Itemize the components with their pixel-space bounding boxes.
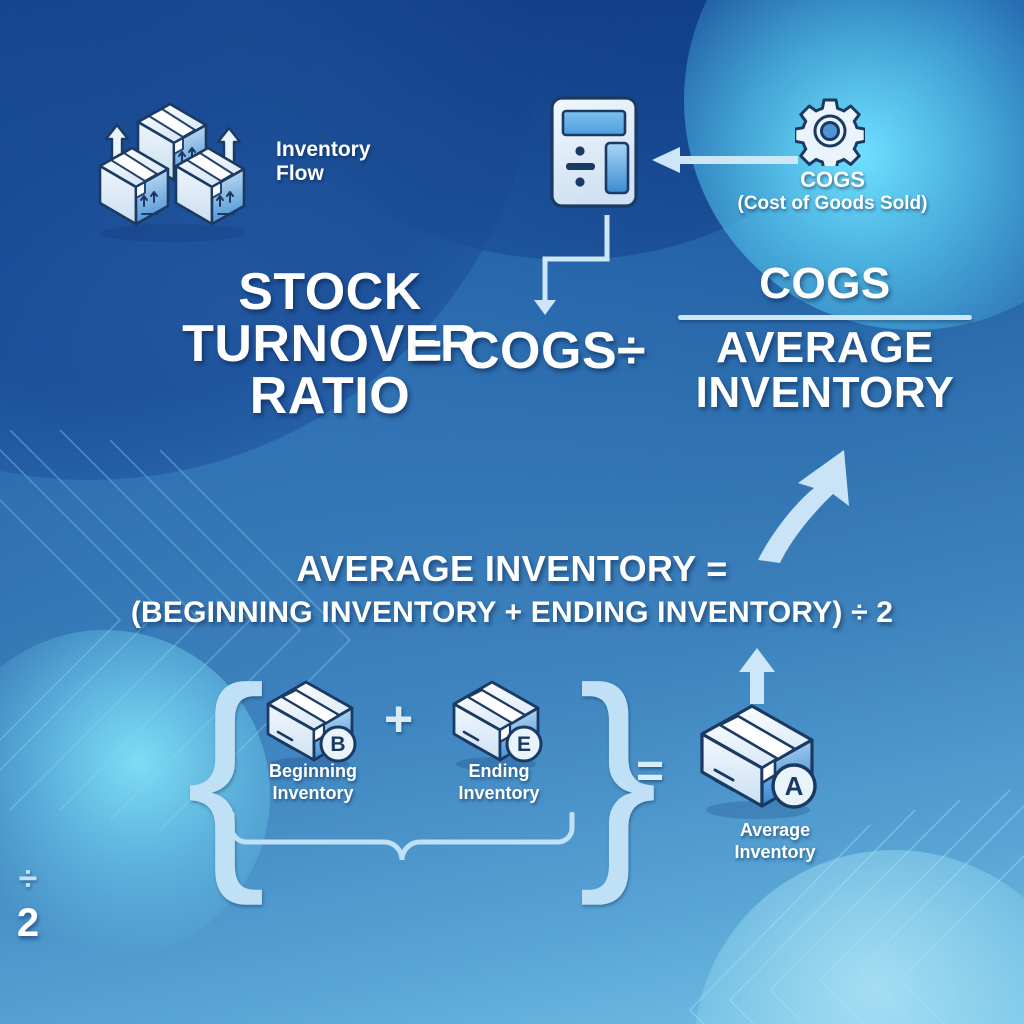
fraction-denominator-line1: AVERAGE <box>660 326 990 371</box>
average-inventory-label-line2: Inventory <box>700 842 850 864</box>
inventory-flow-label-line1: Inventory <box>276 138 371 162</box>
ending-inventory-label: Ending Inventory <box>434 761 564 804</box>
box-badge-b: B <box>330 733 345 756</box>
gear-icon <box>795 96 865 166</box>
box-icon-ending: E <box>444 676 552 772</box>
curved-arrow-up-right-icon <box>752 432 882 567</box>
average-inventory-label-line1: Average <box>700 820 850 842</box>
fraction-block: COGS AVERAGE INVENTORY <box>660 262 990 416</box>
formula-title-line1: STOCK <box>110 266 550 318</box>
fraction-denominator-line2: INVENTORY <box>660 371 990 416</box>
ending-inventory-label-line1: Ending <box>434 761 564 783</box>
fraction-numerator: COGS <box>660 262 990 307</box>
divisor-value: 2 <box>0 901 402 946</box>
infographic-canvas: Inventory Flow <box>0 0 1024 1024</box>
ending-inventory-label-line2: Inventory <box>434 783 564 805</box>
stacked-boxes-icon <box>78 92 268 242</box>
average-inventory-label: Average Inventory <box>700 820 850 863</box>
average-inventory-formula-line1: AVERAGE INVENTORY = <box>0 548 1024 590</box>
formula-divide-sign: ÷ <box>617 325 646 377</box>
box-badge-e: E <box>517 733 531 756</box>
calculator-icon <box>546 93 646 213</box>
arrow-up-icon <box>735 646 779 706</box>
inventory-flow-label-line2: Flow <box>276 162 371 186</box>
divide-sign-bottom: ÷ <box>0 864 402 895</box>
underbrace-icon <box>228 812 576 868</box>
inventory-flow-label: Inventory Flow <box>276 138 371 185</box>
cogs-label-line1: COGS <box>700 168 965 193</box>
beginning-inventory-label-line1: Beginning <box>248 761 378 783</box>
beginning-inventory-label: Beginning Inventory <box>248 761 378 804</box>
box-badge-a: A <box>785 771 804 801</box>
box-icon-beginning: B <box>258 676 366 772</box>
plus-sign: + <box>384 690 413 748</box>
average-inventory-formula: AVERAGE INVENTORY = (BEGINNING INVENTORY… <box>0 548 1024 630</box>
average-inventory-formula-line2: (BEGINNING INVENTORY + ENDING INVENTORY)… <box>0 596 1024 630</box>
fraction-bar <box>678 315 972 320</box>
box-icon-average: A <box>690 700 830 820</box>
result-equals-sign: = <box>636 744 664 799</box>
cogs-label-line2: (Cost of Goods Sold) <box>700 193 965 214</box>
beginning-inventory-label-line2: Inventory <box>248 783 378 805</box>
formula-rhs-term: COGS <box>462 325 617 377</box>
divide-by-two-block: ÷ 2 <box>0 864 402 946</box>
cogs-label: COGS (Cost of Goods Sold) <box>700 168 965 214</box>
formula-equals-sign: = <box>412 325 443 377</box>
